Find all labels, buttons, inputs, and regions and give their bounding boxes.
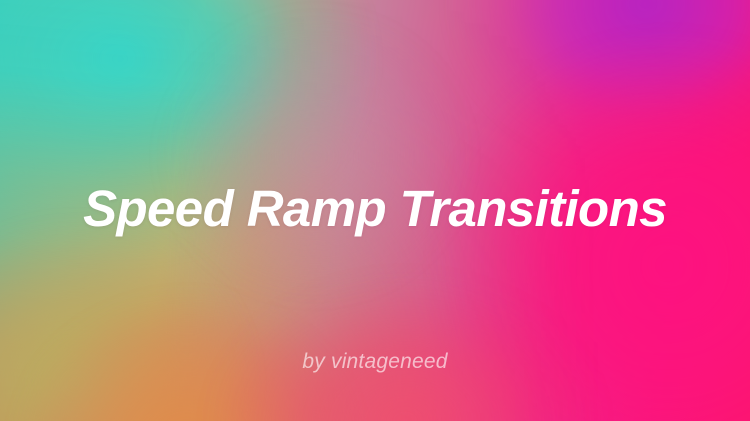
slide-content: Speed Ramp Transitions by vintageneed: [0, 0, 750, 421]
slide-byline: by vintageneed: [0, 350, 750, 373]
slide-title: Speed Ramp Transitions: [0, 183, 750, 234]
title-slide: Speed Ramp Transitions by vintageneed: [0, 0, 750, 421]
